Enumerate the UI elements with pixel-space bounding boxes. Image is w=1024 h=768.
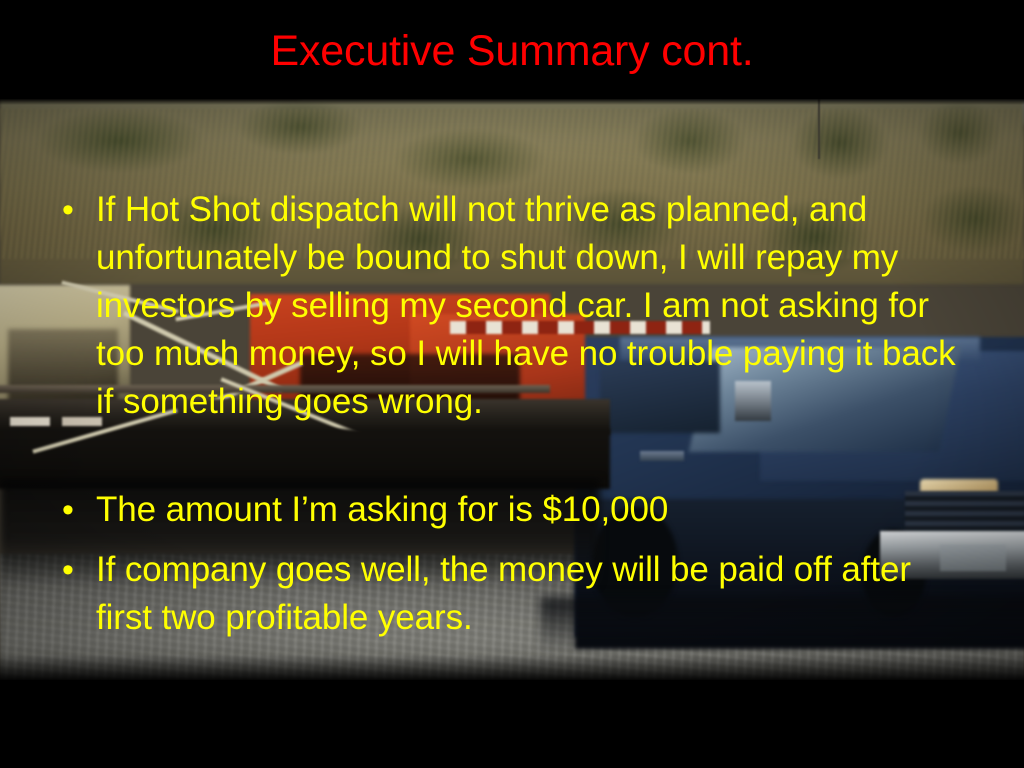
bullet-item-3: • If company goes well, the money will b…	[58, 546, 958, 642]
bullet-marker-icon: •	[58, 186, 96, 234]
page-title: Executive Summary cont.	[0, 28, 1024, 74]
bullet-marker-icon: •	[58, 486, 96, 534]
slide-body: • If Hot Shot dispatch will not thrive a…	[0, 99, 1024, 680]
presentation-slide: • If Hot Shot dispatch will not thrive a…	[0, 0, 1024, 768]
bullet-marker-icon: •	[58, 546, 96, 594]
bullet-text-2: The amount I’m asking for is $10,000	[96, 486, 958, 534]
bottom-band	[0, 680, 1024, 768]
bullet-text-1: If Hot Shot dispatch will not thrive as …	[96, 186, 958, 426]
bullet-item-1: • If Hot Shot dispatch will not thrive a…	[58, 186, 958, 426]
bullet-item-2: • The amount I’m asking for is $10,000	[58, 486, 958, 534]
title-band: Executive Summary cont.	[0, 0, 1024, 99]
bullet-text-3: If company goes well, the money will be …	[96, 546, 958, 642]
